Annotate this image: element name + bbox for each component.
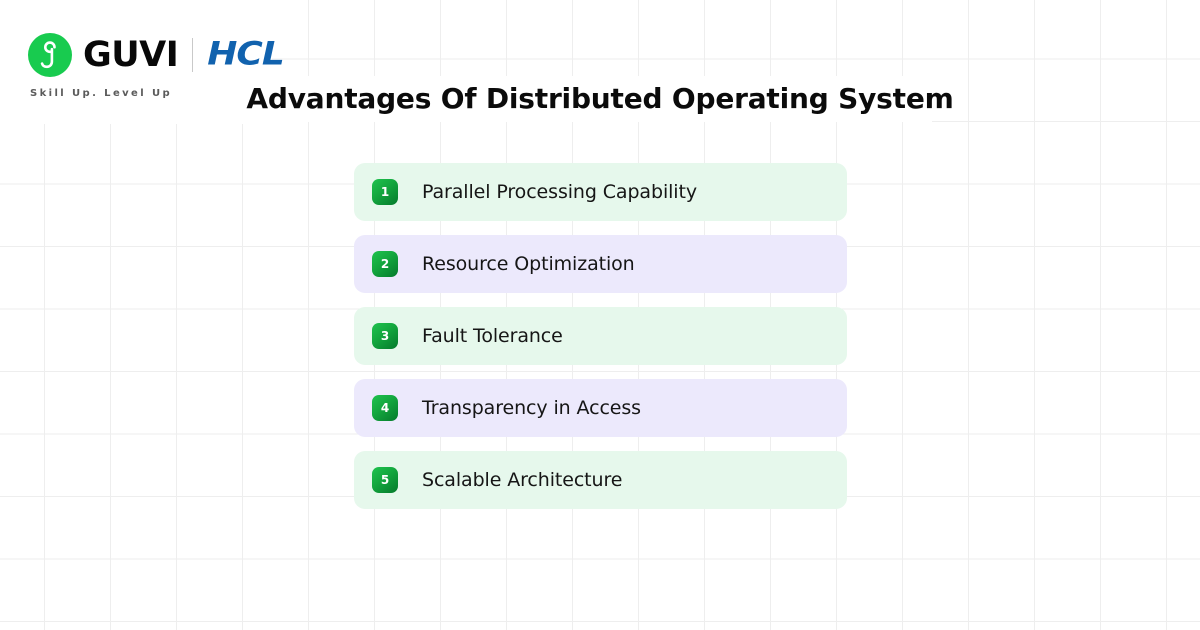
list-item-label: Scalable Architecture [422,469,622,491]
list-item-label: Parallel Processing Capability [422,181,697,203]
list-item-number-badge: 1 [372,179,398,205]
guvi-wordmark: GUVI [83,38,178,73]
brand-divider [192,38,193,72]
slide-canvas: GUVI HCL Skill Up. Level Up Advantages O… [0,0,1200,630]
list-item-label: Transparency in Access [422,397,641,419]
list-item-number-badge: 4 [372,395,398,421]
list-item-label: Fault Tolerance [422,325,563,347]
list-item: 3 Fault Tolerance [354,307,847,365]
list-item: 5 Scalable Architecture [354,451,847,509]
list-item-label: Resource Optimization [422,253,635,275]
list-item: 2 Resource Optimization [354,235,847,293]
guvi-g-mark-icon [28,33,72,77]
list-item-number-badge: 5 [372,467,398,493]
list-item-number-badge: 3 [372,323,398,349]
advantages-list: 1 Parallel Processing Capability 2 Resou… [354,163,847,509]
hcl-wordmark: HCL [207,39,284,71]
brand-row: GUVI HCL [28,30,284,80]
page-title: Advantages Of Distributed Operating Syst… [0,82,1200,115]
list-item-number-badge: 2 [372,251,398,277]
list-item: 4 Transparency in Access [354,379,847,437]
list-item: 1 Parallel Processing Capability [354,163,847,221]
